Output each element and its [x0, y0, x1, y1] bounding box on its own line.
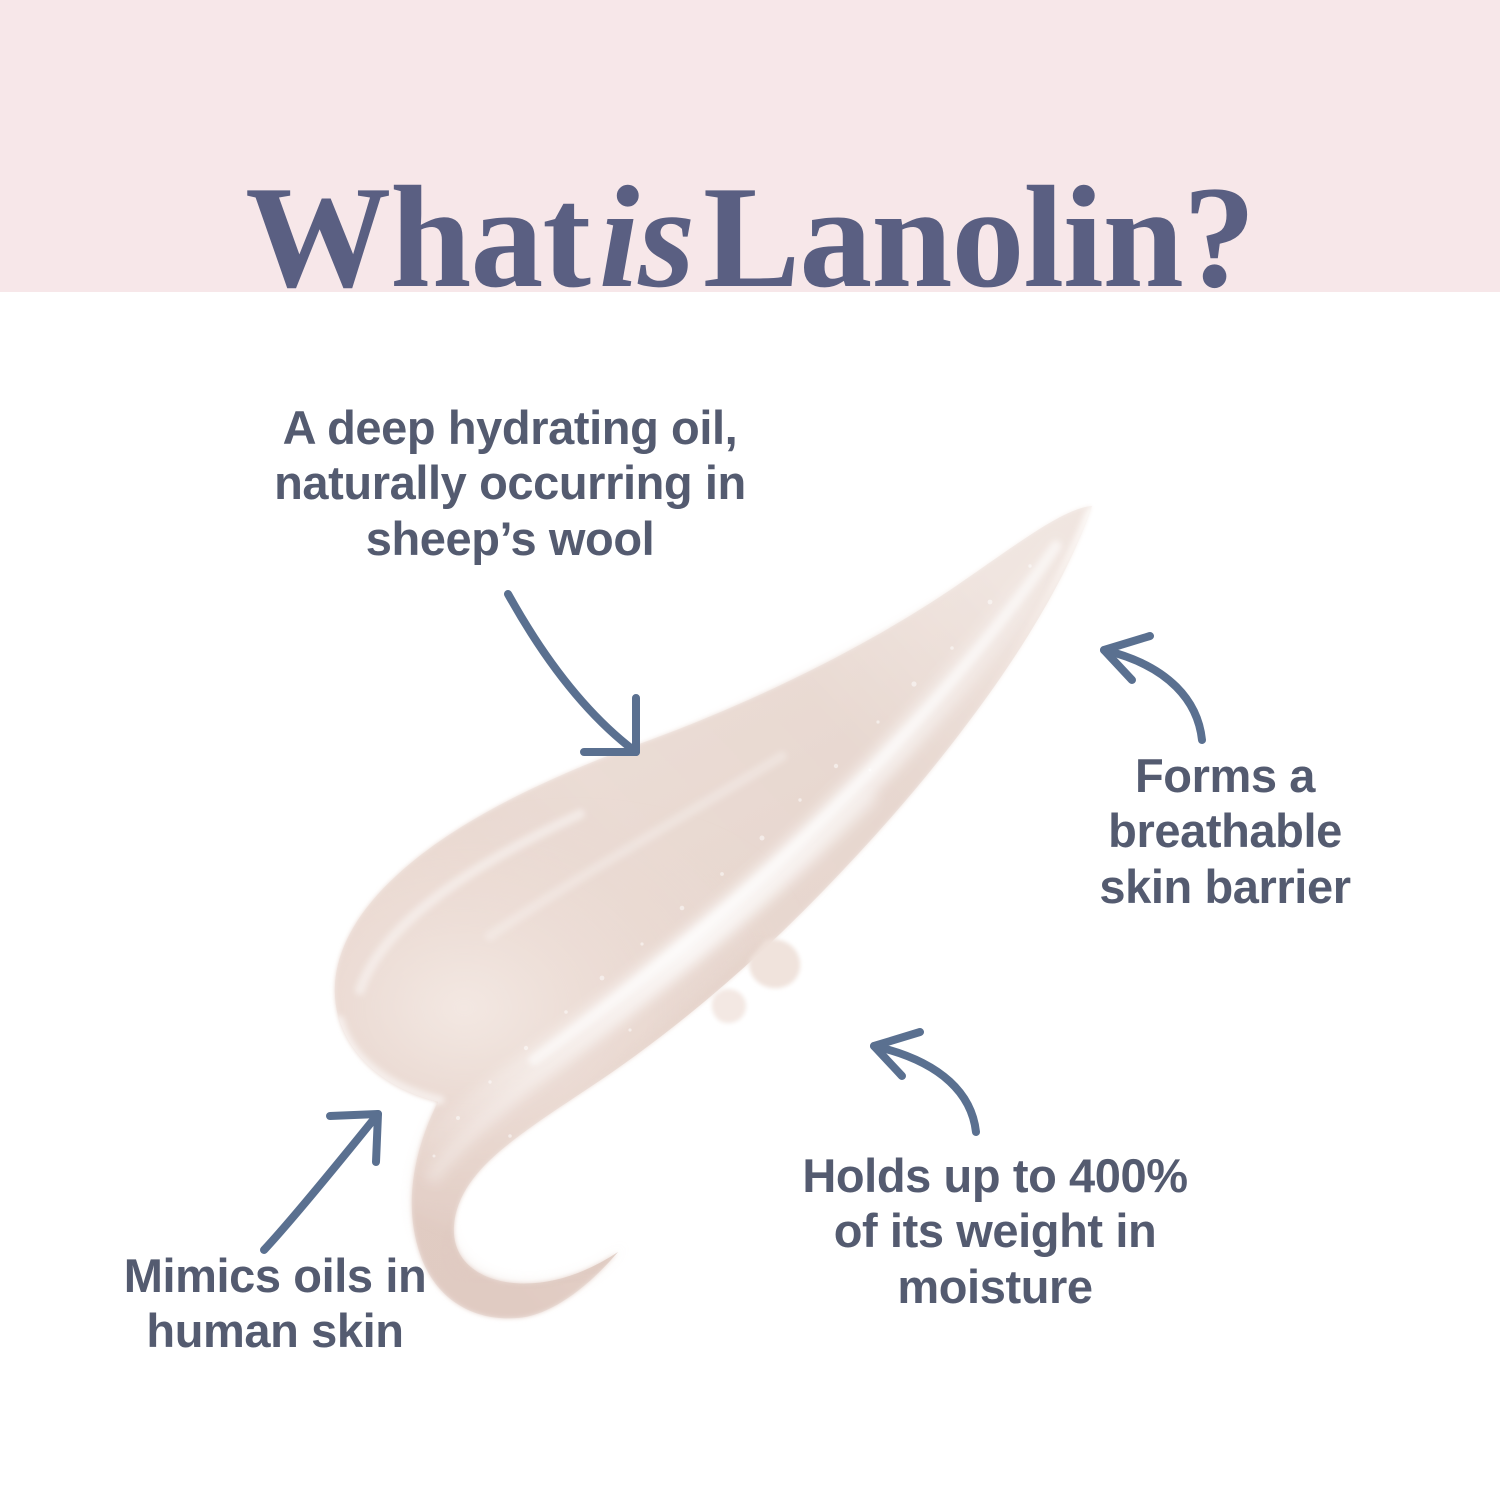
page-title-part2: Lanolin? [703, 164, 1255, 310]
page-title: What is Lanolin? [0, 98, 1500, 390]
callout-mimics-skin-text: Mimics oils in human skin [80, 1248, 470, 1359]
infographic-page: What is Lanolin? [0, 0, 1500, 1500]
callout-hydrating-oil-text: A deep hydrating oil, naturally occurrin… [210, 400, 810, 566]
callout-moisture-hold-text: Holds up to 400% of its weight in moistu… [730, 1148, 1260, 1314]
callout-breathable-barrier-text: Forms a breathable skin barrier [1060, 748, 1390, 914]
page-title-part1: What [245, 164, 590, 310]
page-title-emphasis: is [590, 164, 703, 310]
